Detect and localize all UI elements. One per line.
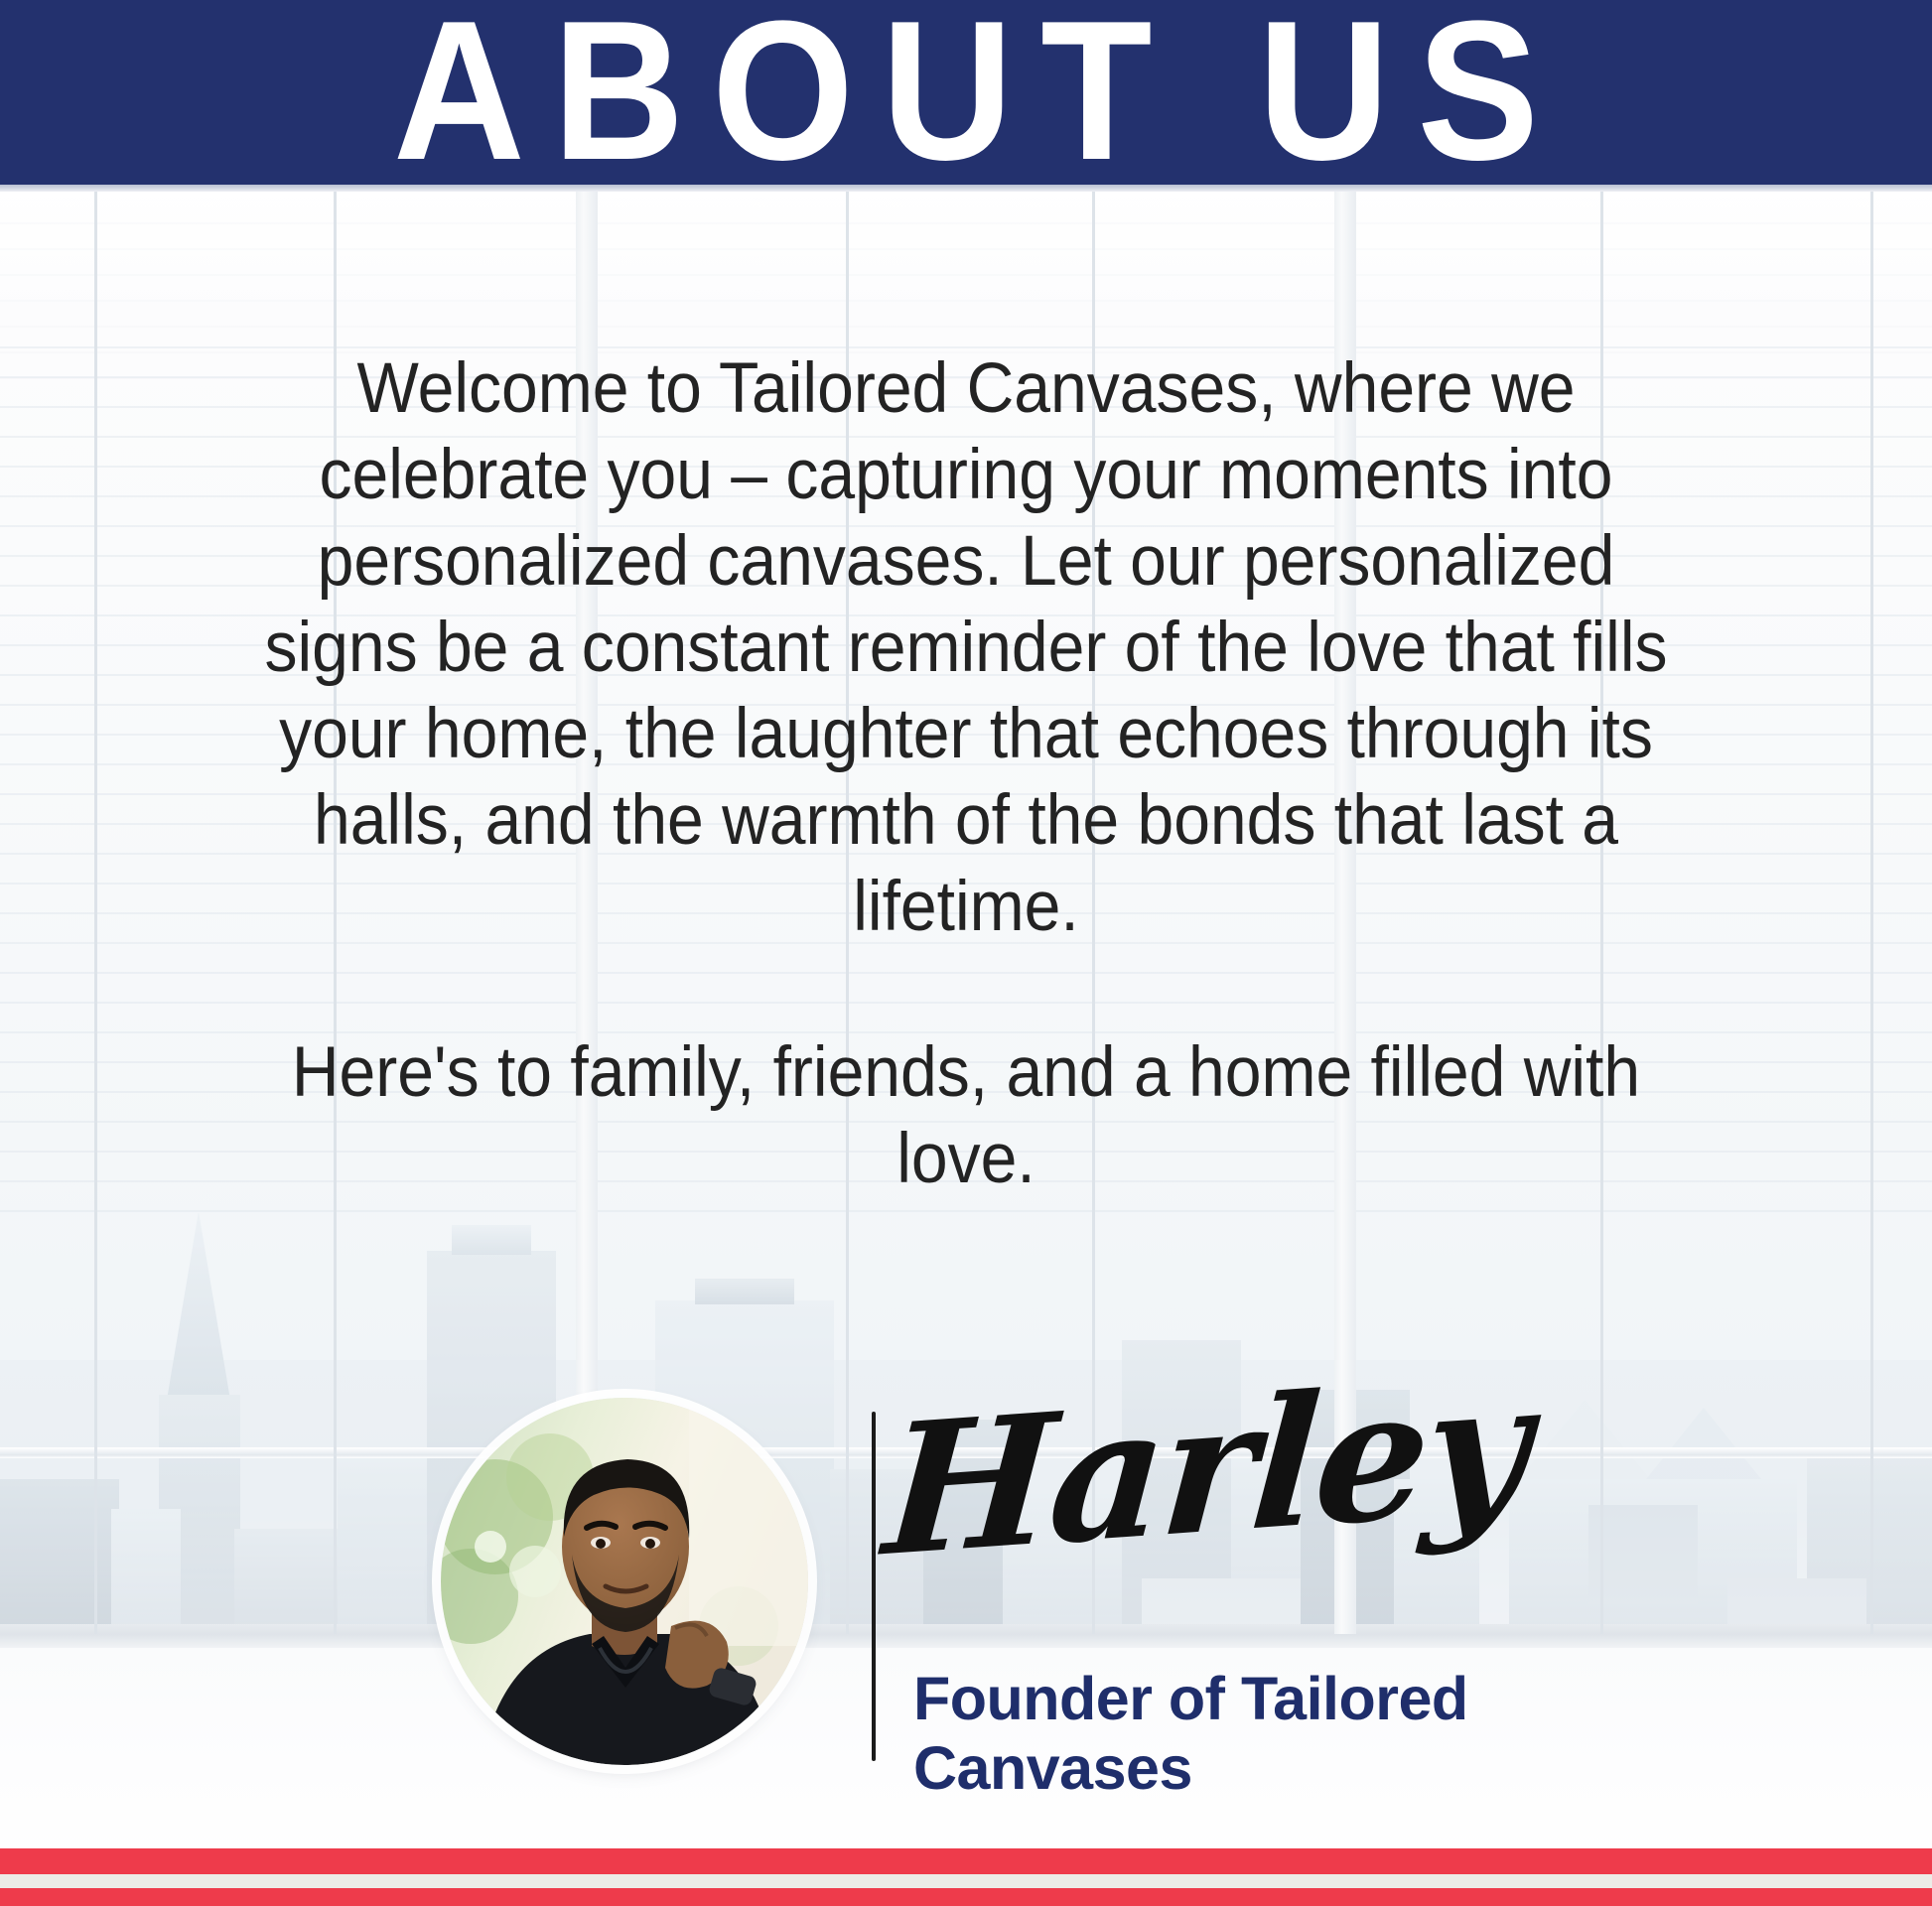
about-us-copy: Welcome to Tailored Canvases, where we c… xyxy=(243,345,1689,1202)
footer-bar-gap xyxy=(0,1874,1932,1888)
footer-bar-bottom xyxy=(0,1888,1932,1906)
page-title: ABOUT US xyxy=(77,0,1855,189)
founder-role-line-2: Canvases xyxy=(913,1733,1628,1803)
paragraph-spacer xyxy=(243,950,1689,1029)
founder-block: Harley Founder of Tailored Canvases xyxy=(0,1398,1932,1815)
signature-divider xyxy=(872,1412,876,1761)
header-underline-rule xyxy=(0,185,1932,192)
founder-signature: Harley xyxy=(894,1386,1509,1684)
footer-bar-top xyxy=(0,1848,1932,1874)
founder-role: Founder of Tailored Canvases xyxy=(913,1664,1628,1803)
about-us-poster: ABOUT US Welcome to Tailored Canvases, w… xyxy=(0,0,1932,1906)
about-paragraph-2: Here's to family, friends, and a home fi… xyxy=(243,1029,1689,1202)
about-paragraph-1: Welcome to Tailored Canvases, where we c… xyxy=(243,345,1689,950)
avatar xyxy=(441,1398,808,1765)
header-banner: ABOUT US xyxy=(0,0,1932,185)
founder-role-line-1: Founder of Tailored xyxy=(913,1664,1628,1733)
